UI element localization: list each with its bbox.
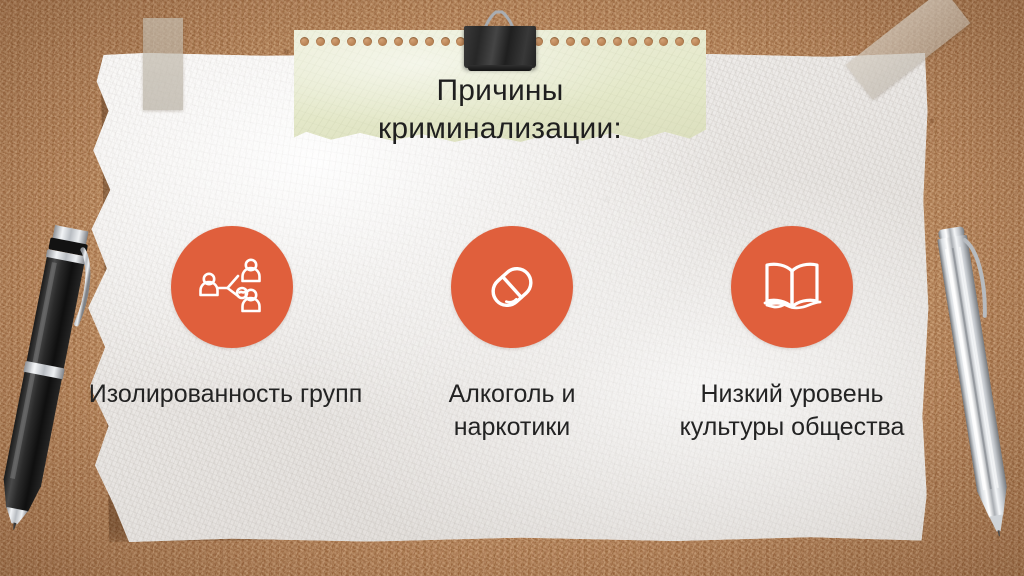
list-item: Алкоголь и наркотики xyxy=(380,226,644,444)
list-item: Низкий уровень культуры общества xyxy=(660,226,924,444)
title-line-2: криминализации: xyxy=(294,110,706,148)
hole xyxy=(363,37,372,46)
list-item: Изолированность групп xyxy=(100,226,364,411)
hole xyxy=(659,37,668,46)
hole xyxy=(566,37,575,46)
hole xyxy=(691,37,700,46)
clip-lip xyxy=(468,65,532,71)
icon-badge-isolation xyxy=(171,226,293,348)
hole xyxy=(347,37,356,46)
page-title: Причины криминализации: xyxy=(294,72,706,148)
hole xyxy=(425,37,434,46)
hole xyxy=(644,37,653,46)
hole xyxy=(441,37,450,46)
pill-capsule-icon xyxy=(479,254,545,320)
hole xyxy=(409,37,418,46)
hole xyxy=(316,37,325,46)
hole xyxy=(597,37,606,46)
people-network-icon xyxy=(196,254,268,320)
hole xyxy=(675,37,684,46)
hole xyxy=(628,37,637,46)
list-item-label: Изолированность групп xyxy=(81,378,371,411)
silver-pen xyxy=(930,222,1022,540)
icon-badge-substances xyxy=(451,226,573,348)
hole xyxy=(300,37,309,46)
icon-badge-culture xyxy=(731,226,853,348)
open-book-icon xyxy=(758,256,826,318)
hole xyxy=(550,37,559,46)
binder-clip-icon xyxy=(464,10,536,68)
hole xyxy=(581,37,590,46)
hole xyxy=(394,37,403,46)
list-item-label: Низкий уровень культуры общества xyxy=(667,378,917,444)
hole xyxy=(331,37,340,46)
hole xyxy=(378,37,387,46)
list-item-label: Алкоголь и наркотики xyxy=(392,378,632,444)
reasons-list: Изолированность групп Алкоголь и наркоти… xyxy=(100,226,924,444)
title-line-1: Причины xyxy=(294,72,706,110)
slide-canvas: Причины криминализации: xyxy=(0,0,1024,576)
clip-body xyxy=(464,26,536,68)
masking-tape-left xyxy=(143,18,183,110)
hole xyxy=(613,37,622,46)
